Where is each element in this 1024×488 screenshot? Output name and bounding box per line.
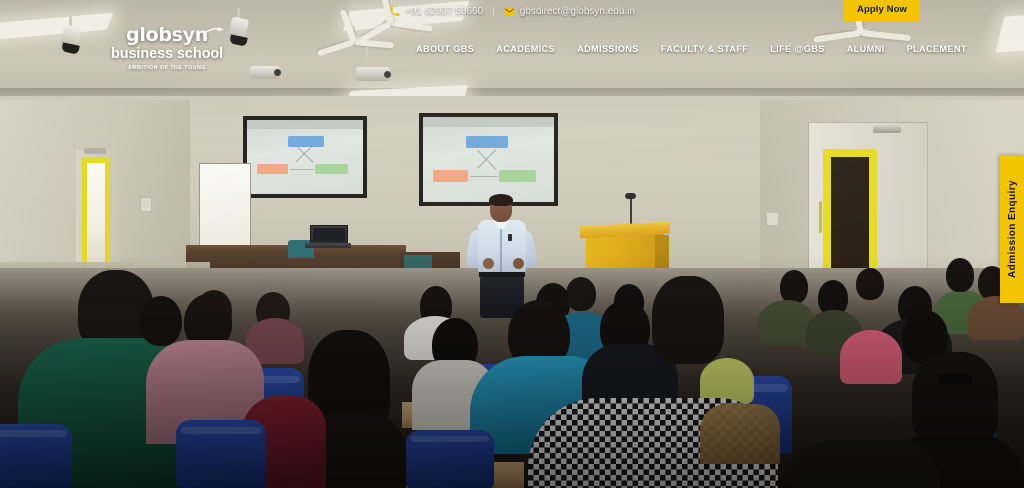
- admission-enquiry-label: Admission Enquiry: [1007, 180, 1018, 278]
- audience-person: [790, 440, 940, 488]
- auditorium-chair: [176, 420, 266, 488]
- projection-screen-right: [419, 113, 558, 206]
- topbar-separator: |: [492, 6, 495, 17]
- auditorium-chair: [0, 424, 72, 488]
- audience-head: [856, 268, 884, 300]
- admission-enquiry-tab[interactable]: Admission Enquiry: [1000, 155, 1024, 303]
- laptop-base: [305, 243, 351, 248]
- whiteboard: [199, 163, 251, 249]
- wall-switch-plate: [766, 212, 779, 226]
- phone-icon: [389, 6, 400, 17]
- microphone-icon: [625, 193, 636, 199]
- nav-item-life-at-gbs[interactable]: LIFE @GBS: [770, 44, 824, 54]
- phone-number: +91 62937 58660: [405, 6, 483, 17]
- nav-item-faculty-staff[interactable]: FACULTY & STAFF: [661, 44, 748, 54]
- wall-switch-plate: [140, 197, 152, 212]
- audience-head: [946, 258, 974, 292]
- right-door: [808, 122, 928, 284]
- site-logo[interactable]: globsyn business school AMBITION OF THE …: [104, 26, 230, 71]
- audience-head: [912, 352, 998, 448]
- mail-icon: [504, 6, 515, 17]
- nav-item-placement[interactable]: PLACEMENT: [907, 44, 967, 54]
- audience-person: [840, 330, 902, 384]
- audience-head: [566, 277, 596, 311]
- nav-item-academics[interactable]: ACADEMICS: [496, 44, 555, 54]
- email-address: gbsdirect@globsyn.edu.in: [520, 6, 635, 17]
- phone-contact[interactable]: +91 62937 58660: [389, 6, 483, 17]
- logo-tagline: AMBITION OF THE YOUNG: [104, 65, 230, 71]
- left-door: [76, 150, 120, 280]
- logo-line-2: business school: [104, 45, 230, 63]
- audience-head: [652, 276, 724, 364]
- auditorium-photo: globsyn: [0, 0, 1024, 488]
- main-navigation: ABOUT GBS ACADEMICS ADMISSIONS FACULTY &…: [416, 44, 967, 54]
- swoosh-icon: [202, 27, 224, 39]
- ceiling-fan-icon: [314, 26, 394, 56]
- eyeglasses-icon: [938, 374, 972, 384]
- audience-head: [780, 270, 808, 304]
- apply-now-button[interactable]: Apply Now: [844, 0, 920, 21]
- projection-screen-left: [243, 116, 367, 198]
- nav-item-alumni[interactable]: ALUMNI: [847, 44, 885, 54]
- page-root: globsyn: [0, 0, 1024, 488]
- laptop: [310, 225, 348, 244]
- nav-item-about-gbs[interactable]: ABOUT GBS: [416, 44, 474, 54]
- audience-head: [140, 296, 182, 346]
- email-contact[interactable]: gbsdirect@globsyn.edu.in: [504, 6, 635, 17]
- auditorium-chair: [406, 430, 494, 488]
- nav-item-admissions[interactable]: ADMISSIONS: [577, 44, 639, 54]
- audience-bag: [700, 404, 780, 464]
- speaker-presenter: [466, 196, 538, 316]
